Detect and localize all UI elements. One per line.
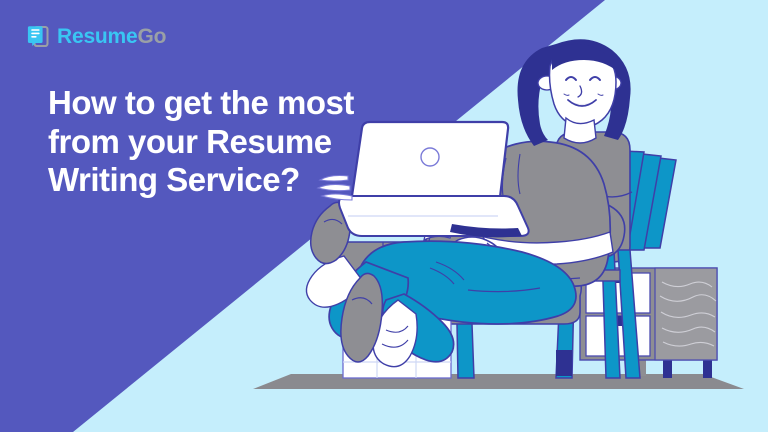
brand-name-go: Go — [138, 25, 167, 48]
page-title: How to get the most from your Resume Wri… — [48, 84, 398, 200]
brand-name-resume: Resume — [57, 25, 138, 48]
resume-document-icon — [26, 23, 52, 49]
promo-banner: ResumeGo How to get the most from your R… — [0, 0, 768, 432]
brand-logo[interactable]: ResumeGo — [26, 22, 166, 50]
brand-logo-text: ResumeGo — [57, 26, 166, 47]
